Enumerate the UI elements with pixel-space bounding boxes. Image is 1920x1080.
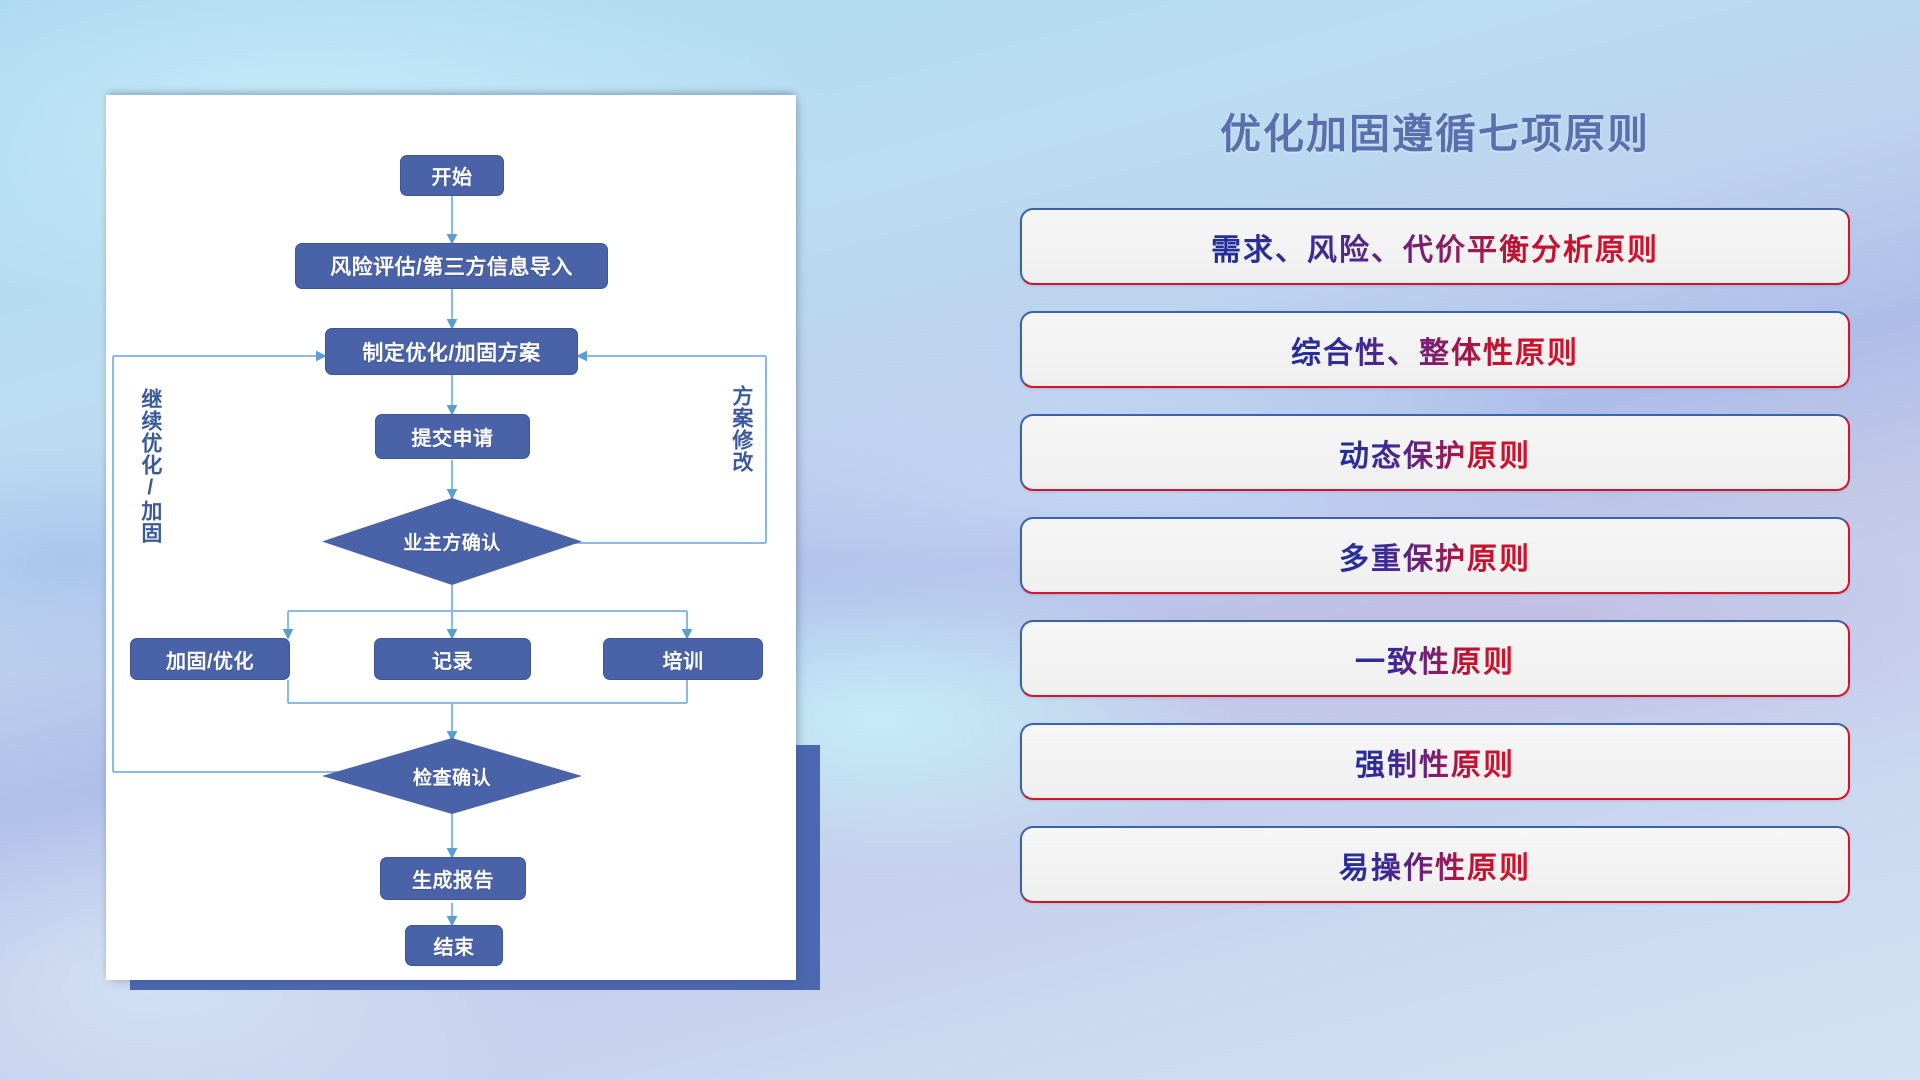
flow-node-make-plan: 制定优化/加固方案 [325, 328, 578, 375]
flow-node-generate-report-label: 生成报告 [412, 864, 494, 893]
flow-node-record-label: 记录 [432, 645, 473, 674]
principle-label: 动态保护原则 [1339, 431, 1531, 475]
flow-node-start-label: 开始 [432, 161, 473, 190]
principle-label: 强制性原则 [1355, 740, 1515, 784]
flow-node-end: 结束 [405, 925, 503, 966]
principle-card-6[interactable]: 强制性原则 [1020, 723, 1850, 800]
principle-label: 易操作性原则 [1339, 843, 1531, 887]
flow-node-reinforce: 加固/优化 [130, 638, 290, 680]
flow-node-risk-assessment-label: 风险评估/第三方信息导入 [330, 251, 573, 281]
flow-node-generate-report: 生成报告 [380, 857, 526, 900]
principle-card-5[interactable]: 一致性原则 [1020, 620, 1850, 697]
flow-node-reinforce-label: 加固/优化 [166, 645, 254, 674]
flow-node-make-plan-label: 制定优化/加固方案 [362, 337, 540, 367]
slide-canvas: 开始 风险评估/第三方信息导入 制定优化/加固方案 提交申请 业主方确认 加固/… [0, 0, 1920, 1080]
flow-node-submit-application: 提交申请 [375, 414, 530, 459]
flow-node-start: 开始 [400, 155, 504, 196]
principle-card-1[interactable]: 需求、风险、代价平衡分析原则 [1020, 208, 1850, 285]
principle-label: 综合性、整体性原则 [1291, 328, 1579, 372]
principle-label: 多重保护原则 [1339, 534, 1531, 578]
flow-node-submit-application-label: 提交申请 [412, 422, 494, 451]
principle-card-4[interactable]: 多重保护原则 [1020, 517, 1850, 594]
principles-list: 需求、风险、代价平衡分析原则 综合性、整体性原则 动态保护原则 多重保护原则 一… [1020, 208, 1850, 903]
principles-panel: 优化加固遵循七项原则 需求、风险、代价平衡分析原则 综合性、整体性原则 动态保护… [1020, 100, 1850, 903]
principle-card-2[interactable]: 综合性、整体性原则 [1020, 311, 1850, 388]
panel-title: 优化加固遵循七项原则 [1020, 100, 1850, 160]
flow-node-record: 记录 [374, 638, 531, 680]
flow-node-training: 培训 [603, 638, 763, 680]
principle-card-7[interactable]: 易操作性原则 [1020, 826, 1850, 903]
flow-edge-label-continue-optimize: 继续优化/加固 [139, 388, 161, 544]
principle-label: 一致性原则 [1355, 637, 1515, 681]
principle-card-3[interactable]: 动态保护原则 [1020, 414, 1850, 491]
principle-label: 需求、风险、代价平衡分析原则 [1211, 225, 1659, 269]
flow-node-risk-assessment: 风险评估/第三方信息导入 [295, 243, 608, 289]
flow-node-owner-confirm-label: 业主方确认 [403, 528, 501, 555]
flow-node-end-label: 结束 [434, 931, 475, 960]
flow-node-inspection-confirm-label: 检查确认 [413, 763, 491, 790]
flow-node-training-label: 培训 [663, 645, 704, 674]
flow-edge-label-plan-revision: 方案修改 [730, 385, 752, 473]
